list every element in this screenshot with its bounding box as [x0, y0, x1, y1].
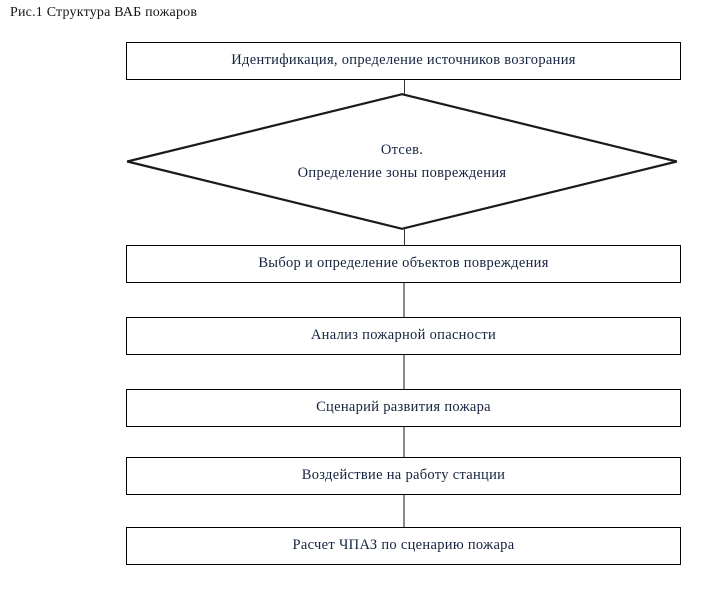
flow-node-object-selection: Выбор и определение объектов повреждения	[126, 245, 681, 283]
flow-node-fire-scenario: Сценарий развития пожара	[126, 389, 681, 427]
flow-node-label: Выбор и определение объектов повреждения	[258, 256, 548, 271]
connector-n1-n2	[404, 80, 406, 94]
flow-node-chpaz-calculation: Расчет ЧПАЗ по сценарию пожара	[126, 527, 681, 565]
flow-node-screening-decision: Отсев. Определение зоны повреждения	[126, 93, 678, 230]
flow-node-plant-operation-impact: Воздействие на работу станции	[126, 457, 681, 495]
connector-n2-n3	[404, 228, 406, 245]
flow-node-label: Воздействие на работу станции	[302, 468, 506, 483]
flow-node-fire-hazard-analysis: Анализ пожарной опасности	[126, 317, 681, 355]
flow-node-identification: Идентификация, определение источников во…	[126, 42, 681, 80]
connector-n4-n5	[403, 355, 405, 389]
flow-node-label: Сценарий развития пожара	[316, 400, 491, 415]
flow-node-label: Идентификация, определение источников во…	[231, 53, 575, 68]
flow-node-label: Расчет ЧПАЗ по сценарию пожара	[293, 538, 515, 553]
flowchart-diagram: Идентификация, определение источников во…	[0, 0, 712, 600]
connector-n5-n6	[403, 427, 405, 457]
connector-n6-n7	[403, 495, 405, 527]
diamond-shape-icon	[126, 93, 678, 230]
connector-n3-n4	[403, 283, 405, 317]
flow-node-label: Анализ пожарной опасности	[311, 328, 496, 343]
